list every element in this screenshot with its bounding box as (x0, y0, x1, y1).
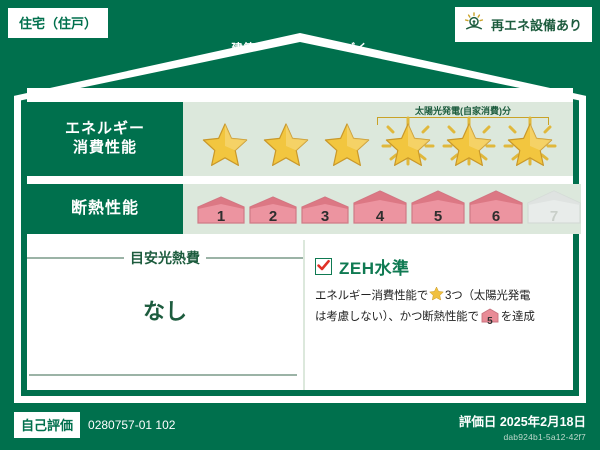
star-solar (441, 115, 497, 169)
renewable-badge: 再エネ設備あり (455, 7, 592, 42)
sun-icon (463, 12, 485, 37)
insulation-level-1: 1 (197, 196, 245, 229)
evaluation-date: 評価日 2025年2月18日 (459, 411, 586, 430)
energy-performance-row: エネルギー 消費性能 太陽光発電(自家消費)分 (27, 102, 573, 176)
evaluation-type-tag: 自己評価 (14, 412, 80, 438)
energy-performance-label: エネルギー 消費性能 (27, 102, 183, 176)
footer-date: 評価日 2025年2月18日 dab924b1-5a12-42f7 (459, 411, 586, 442)
insulation-performance-label: 断熱性能 (27, 184, 183, 234)
footer-evaluation: 自己評価 0280757-01 102 (14, 412, 175, 438)
renewable-badge-label: 再エネ設備あり (491, 15, 582, 34)
energy-performance-body: 太陽光発電(自家消費)分 (183, 102, 573, 176)
zeh-title: ZEH水準 (339, 254, 410, 279)
cost-heading-rule-left (27, 257, 124, 259)
star-base (258, 115, 314, 169)
zeh-desc-part1: エネルギー消費性能で (315, 290, 428, 302)
zeh-heading: ZEH水準 (315, 254, 573, 279)
utility-cost-section: 目安光熱費 なし (27, 240, 303, 390)
zeh-description: エネルギー消費性能で 3つ（太陽光発電 は考慮しない）、かつ断熱性能で 5 を達… (315, 286, 573, 330)
evaluation-code: 0280757-01 102 (88, 418, 175, 432)
star-solar (380, 115, 436, 169)
lower-section: 目安光熱費 なし ZEH水準 エネルギー消費性能で (27, 240, 573, 390)
star-base (319, 115, 375, 169)
star-solar (502, 115, 558, 169)
zeh-section: ZEH水準 エネルギー消費性能で 3つ（太陽光発電 は考慮しない）、かつ断熱性能… (303, 240, 573, 390)
inline-house-icon: 5 (481, 308, 499, 330)
zeh-desc-part2: は考慮しない）、かつ断熱性能で (315, 311, 479, 323)
check-icon (316, 258, 331, 273)
content-card: エネルギー 消費性能 太陽光発電(自家消費)分 断熱性能 1234567 (27, 88, 573, 390)
insulation-level-3: 3 (301, 196, 349, 229)
insulation-level-2: 2 (249, 196, 297, 229)
energy-label-line2: 消費性能 (73, 139, 137, 158)
insulation-level-6: 6 (469, 190, 523, 229)
cost-bottom-rule (29, 374, 297, 376)
energy-star-rating (183, 115, 558, 169)
insulation-performance-body: 1234567 (183, 184, 581, 234)
energy-label-line1: エネルギー (65, 120, 145, 139)
zeh-checkbox[interactable] (315, 258, 332, 275)
cost-heading-rule-right (206, 257, 303, 259)
insulation-level-scale: 1234567 (183, 190, 581, 229)
utility-cost-value: なし (27, 294, 303, 326)
zeh-desc-stars: 3つ（太陽光発電 (445, 290, 530, 302)
evaluation-hash: dab924b1-5a12-42f7 (459, 432, 586, 442)
inline-house-number: 5 (481, 314, 499, 330)
building-type-tag: 住宅（住戸） (8, 8, 108, 38)
insulation-level-5: 5 (411, 190, 465, 229)
cost-heading-text: 目安光熱費 (130, 248, 200, 268)
inline-star-icon (429, 286, 444, 308)
utility-cost-heading: 目安光熱費 (27, 248, 303, 268)
insulation-level-4: 4 (353, 190, 407, 229)
star-base (197, 115, 253, 169)
energy-label-root: 住宅（住戸） 再エネ設備あり 建築物省エネ法に基づく 省エネ性能ラベル (0, 0, 600, 450)
insulation-level-7: 7 (527, 190, 581, 229)
insulation-performance-row: 断熱性能 1234567 (27, 184, 573, 234)
zeh-desc-part3: を達成 (501, 311, 535, 323)
